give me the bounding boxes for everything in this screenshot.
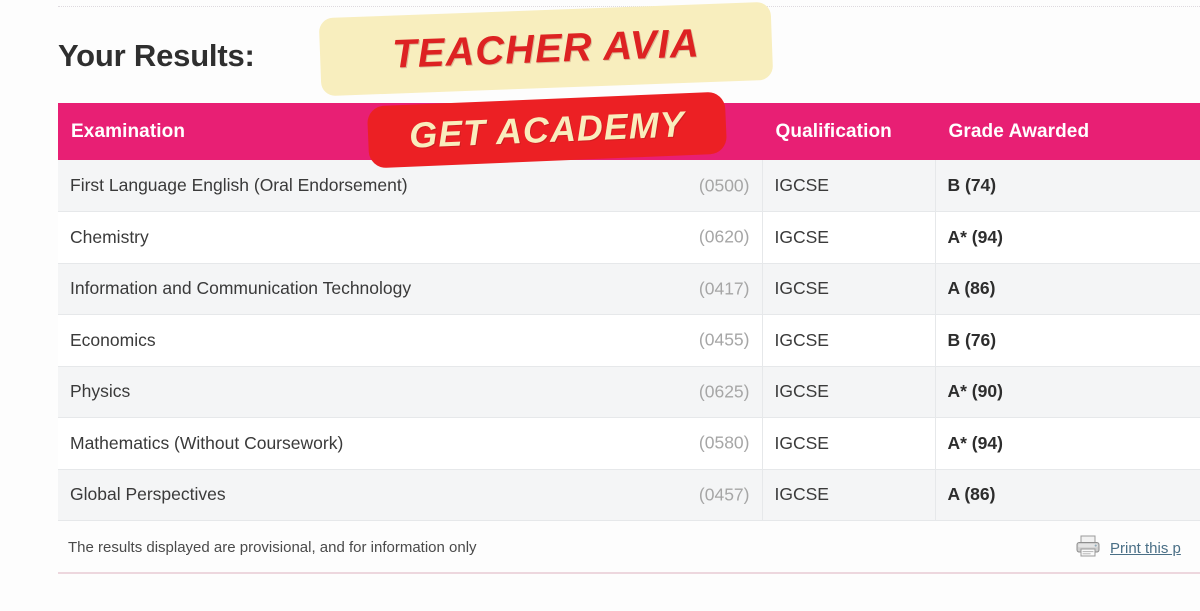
- cell-grade: A* (94): [935, 418, 1200, 470]
- cell-examination: First Language English (Oral Endorsement…: [58, 160, 762, 212]
- table-row: Chemistry(0620)IGCSEA* (94): [58, 212, 1200, 264]
- cell-grade: A (86): [935, 469, 1200, 521]
- examination-name: Economics: [70, 330, 156, 350]
- table-row: Physics(0625)IGCSEA* (90): [58, 366, 1200, 418]
- cell-grade: A* (90): [935, 366, 1200, 418]
- cell-qualification: IGCSE: [762, 263, 935, 315]
- cell-examination: Chemistry(0620): [58, 212, 762, 264]
- examination-name: Global Perspectives: [70, 484, 226, 504]
- cell-examination: Economics(0455): [58, 315, 762, 367]
- examination-name: Chemistry: [70, 227, 149, 247]
- cell-examination: Information and Communication Technology…: [58, 263, 762, 315]
- cell-qualification: IGCSE: [762, 366, 935, 418]
- examination-name: Mathematics (Without Coursework): [70, 433, 343, 453]
- cell-qualification: IGCSE: [762, 212, 935, 264]
- examination-code: (0625): [699, 381, 750, 402]
- cell-examination: Physics(0625): [58, 366, 762, 418]
- cell-grade: B (74): [935, 160, 1200, 212]
- cell-qualification: IGCSE: [762, 469, 935, 521]
- bottom-divider: [58, 572, 1200, 574]
- results-table: Examination Qualification Grade Awarded …: [58, 103, 1200, 521]
- cell-qualification: IGCSE: [762, 418, 935, 470]
- page-title: Your Results:: [58, 38, 255, 74]
- examination-code: (0417): [699, 278, 750, 299]
- watermark-teacher-avia: TEACHER AVIA: [319, 2, 774, 97]
- print-this-page-link[interactable]: Print this p: [1110, 540, 1181, 557]
- examination-code: (0455): [699, 330, 750, 351]
- table-row: Global Perspectives(0457)IGCSEA (86): [58, 469, 1200, 521]
- examination-code: (0620): [699, 227, 750, 248]
- results-page: Your Results: Examination Qualification …: [0, 0, 1200, 611]
- examination-code: (0580): [699, 433, 750, 454]
- examination-code: (0457): [699, 484, 750, 505]
- print-area[interactable]: Print this p: [1075, 534, 1181, 563]
- examination-name: Physics: [70, 381, 130, 401]
- table-row: First Language English (Oral Endorsement…: [58, 160, 1200, 212]
- examination-name: Information and Communication Technology: [70, 278, 411, 298]
- cell-grade: A* (94): [935, 212, 1200, 264]
- cell-qualification: IGCSE: [762, 160, 935, 212]
- cell-grade: A (86): [935, 263, 1200, 315]
- table-row: Mathematics (Without Coursework)(0580)IG…: [58, 418, 1200, 470]
- cell-examination: Mathematics (Without Coursework)(0580): [58, 418, 762, 470]
- cell-grade: B (76): [935, 315, 1200, 367]
- column-header-qualification: Qualification: [762, 103, 935, 160]
- table-row: Information and Communication Technology…: [58, 263, 1200, 315]
- provisional-note: The results displayed are provisional, a…: [68, 539, 477, 556]
- cell-examination: Global Perspectives(0457): [58, 469, 762, 521]
- examination-name: First Language English (Oral Endorsement…: [70, 175, 408, 195]
- table-body: First Language English (Oral Endorsement…: [58, 160, 1200, 521]
- table-row: Economics(0455)IGCSEB (76): [58, 315, 1200, 367]
- column-header-grade: Grade Awarded: [935, 103, 1200, 160]
- examination-code: (0500): [699, 175, 750, 196]
- printer-icon: [1075, 534, 1101, 563]
- cell-qualification: IGCSE: [762, 315, 935, 367]
